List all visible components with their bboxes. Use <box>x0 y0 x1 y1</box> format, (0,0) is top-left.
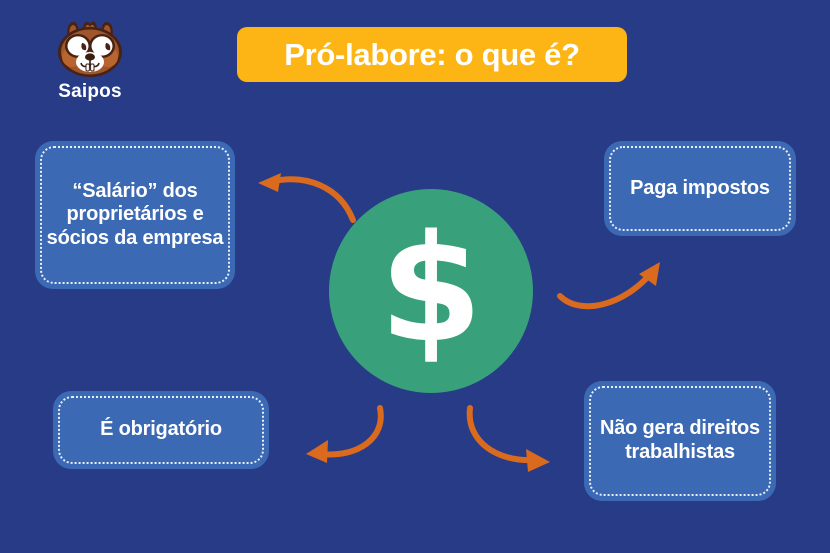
brand-name: Saipos <box>44 82 136 101</box>
callout-box-salario[interactable]: “Salário” dos proprietários e sócios da … <box>35 141 235 289</box>
center-money-circle: $ <box>329 189 533 393</box>
page-title: Pró-labore: o que é? <box>284 37 579 73</box>
callout-box-obrigatorio[interactable]: É obrigatório <box>53 391 269 469</box>
callout-box-direitos[interactable]: Não gera direitos trabalhistas <box>584 381 776 501</box>
curved-arrow-up-right-icon <box>556 258 671 320</box>
curved-arrow-down-left-icon <box>290 402 395 474</box>
callout-box-impostos[interactable]: Paga impostos <box>604 141 796 236</box>
callout-label-salario: “Salário” dos proprietários e sócios da … <box>35 180 235 251</box>
callout-label-obrigatorio: É obrigatório <box>90 418 232 442</box>
squirrel-mascot-icon <box>55 16 125 80</box>
callout-label-impostos: Paga impostos <box>620 177 780 201</box>
curved-arrow-left-icon <box>248 165 358 225</box>
infographic-canvas: Saipos Pró-labore: o que é? $ “Salário” … <box>0 0 830 553</box>
dollar-sign-icon: $ <box>380 215 483 363</box>
title-banner: Pró-labore: o que é? <box>237 27 627 82</box>
callout-label-direitos: Não gera direitos trabalhistas <box>584 417 776 464</box>
curved-arrow-down-right-icon <box>460 402 565 477</box>
brand-logo: Saipos <box>44 16 136 101</box>
